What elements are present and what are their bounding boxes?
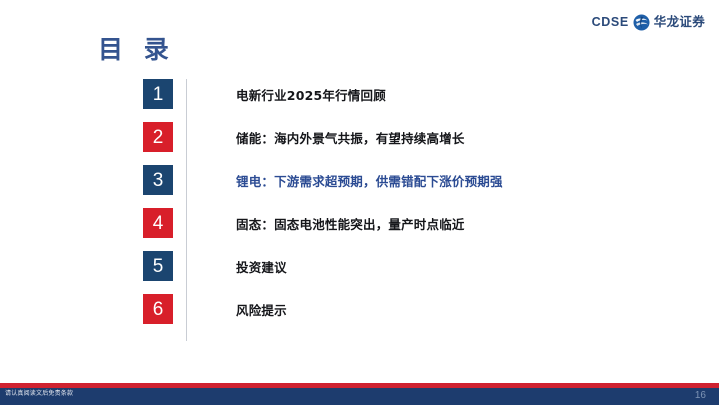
toc-number-badge: 5 bbox=[143, 251, 173, 281]
toc-item-label: 投资建议 bbox=[236, 257, 287, 276]
swoosh-icon bbox=[633, 14, 650, 31]
brand-chinese-text: 华龙证券 bbox=[654, 16, 705, 29]
page-title: 目 录 bbox=[98, 36, 175, 65]
toc-item-label: 锂电：下游需求超预期，供需错配下涨价预期强 bbox=[236, 171, 503, 190]
toc-item-4[interactable]: 4 固态：固态电池性能突出，量产时点临近 bbox=[143, 208, 663, 238]
toc-item-label: 固态：固态电池性能突出，量产时点临近 bbox=[236, 214, 465, 233]
toc-list: 1 电新行业2025年行情回顾 2 储能：海内外景气共振，有望持续高增长 3 锂… bbox=[143, 79, 663, 337]
toc-item-label: 电新行业2025年行情回顾 bbox=[236, 85, 386, 104]
toc-item-6[interactable]: 6 风险提示 bbox=[143, 294, 663, 324]
toc-number-badge: 2 bbox=[143, 122, 173, 152]
toc-number-badge: 4 bbox=[143, 208, 173, 238]
toc-number-badge: 6 bbox=[143, 294, 173, 324]
toc-item-2[interactable]: 2 储能：海内外景气共振，有望持续高增长 bbox=[143, 122, 663, 152]
brand-latin-text: CDSE bbox=[592, 16, 629, 29]
footer-disclaimer: 请认真阅读文后免责条款 bbox=[5, 391, 73, 397]
toc-item-label: 储能：海内外景气共振，有望持续高增长 bbox=[236, 128, 465, 147]
toc-number-badge: 1 bbox=[143, 79, 173, 109]
brand-logo: CDSE 华龙证券 bbox=[592, 13, 705, 31]
toc-item-3[interactable]: 3 锂电：下游需求超预期，供需错配下涨价预期强 bbox=[143, 165, 663, 195]
toc-number-badge: 3 bbox=[143, 165, 173, 195]
page-number: 16 bbox=[695, 390, 706, 402]
slide-canvas: CDSE 华龙证券 目 录 1 电新行业2025年行情回顾 2 储能：海内外景气… bbox=[0, 0, 719, 405]
toc-item-label: 风险提示 bbox=[236, 300, 287, 319]
toc-item-1[interactable]: 1 电新行业2025年行情回顾 bbox=[143, 79, 663, 109]
toc-item-5[interactable]: 5 投资建议 bbox=[143, 251, 663, 281]
footer-bar: 请认真阅读文后免责条款 16 bbox=[0, 388, 719, 405]
